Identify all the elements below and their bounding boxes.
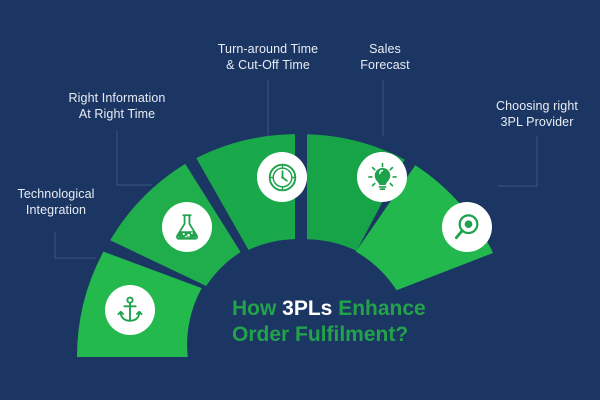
title-line-2: Order Fulfilment? <box>232 322 492 348</box>
label-line-1: Sales <box>345 41 425 57</box>
label-line-1: Choosing right <box>482 98 592 114</box>
anchor-icon-glyph <box>115 295 145 325</box>
label-turn-around-time-cut-off-time: Turn-around Time & Cut-Off Time <box>203 41 333 73</box>
anchor-icon[interactable] <box>105 285 155 335</box>
lightbulb-icon[interactable] <box>357 152 407 202</box>
infographic-canvas: Technological Integration Right Informat… <box>0 0 600 400</box>
label-technological-integration: Technological Integration <box>8 186 104 218</box>
page-title: How 3PLs Enhance Order Fulfilment? <box>232 296 492 348</box>
flask-icon[interactable] <box>162 202 212 252</box>
magnifier-icon-glyph <box>452 212 482 242</box>
clock-icon-glyph <box>267 162 298 193</box>
title-highlight: 3PLs <box>282 297 332 320</box>
title-line-1: How 3PLs Enhance <box>232 296 492 322</box>
label-line-1: Technological <box>8 186 104 202</box>
clock-icon[interactable] <box>257 152 307 202</box>
lightbulb-icon-glyph <box>367 162 398 193</box>
label-line-1: Turn-around Time <box>203 41 333 57</box>
label-sales-forecast: Sales Forecast <box>345 41 425 73</box>
label-right-information-at-right-time: Right Information At Right Time <box>54 90 180 122</box>
connector-technological-integration <box>55 232 96 258</box>
title-pre: How <box>232 297 282 320</box>
connector-right-information <box>117 131 152 185</box>
magnifier-icon[interactable] <box>442 202 492 252</box>
label-choosing-right-3pl-provider: Choosing right 3PL Provider <box>482 98 592 130</box>
label-line-2: Integration <box>8 202 104 218</box>
title-post: Enhance <box>332 297 425 320</box>
label-line-2: & Cut-Off Time <box>203 57 333 73</box>
connector-choosing-3pl-provider <box>498 136 537 186</box>
label-line-1: Right Information <box>54 90 180 106</box>
label-line-2: 3PL Provider <box>482 114 592 130</box>
flask-icon-glyph <box>172 212 202 242</box>
label-line-2: Forecast <box>345 57 425 73</box>
label-line-2: At Right Time <box>54 106 180 122</box>
